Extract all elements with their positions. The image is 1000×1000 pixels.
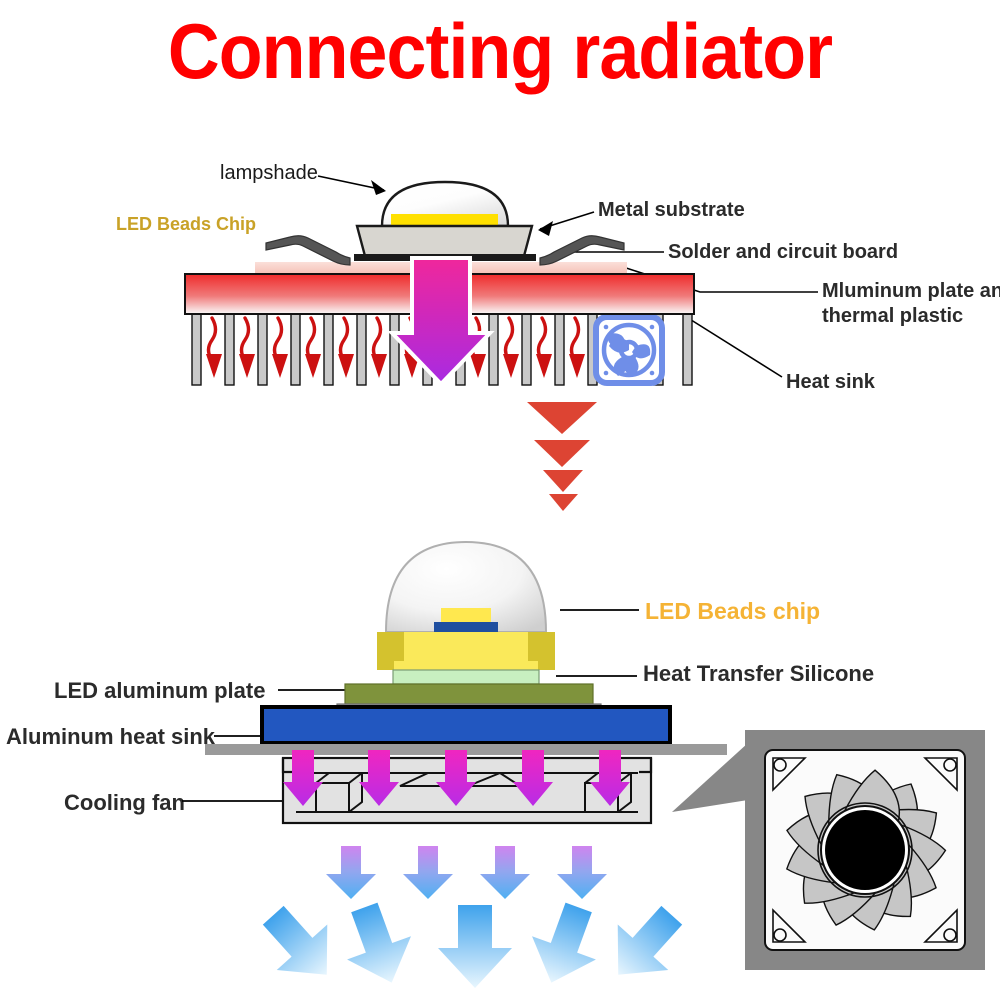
- fan-icon-top: [596, 317, 662, 383]
- led-package-top: [266, 182, 624, 265]
- diagram-artwork: [0, 0, 1000, 1000]
- airflow-arrows-row1: [326, 846, 607, 899]
- transition-chevrons: [527, 402, 597, 511]
- fan-photo: [672, 730, 985, 970]
- diagram-canvas: Connecting radiator lampshade LED Beads …: [0, 0, 1000, 1000]
- led-assembly-bottom: [205, 542, 727, 755]
- airflow-arrows-row2: [248, 893, 697, 998]
